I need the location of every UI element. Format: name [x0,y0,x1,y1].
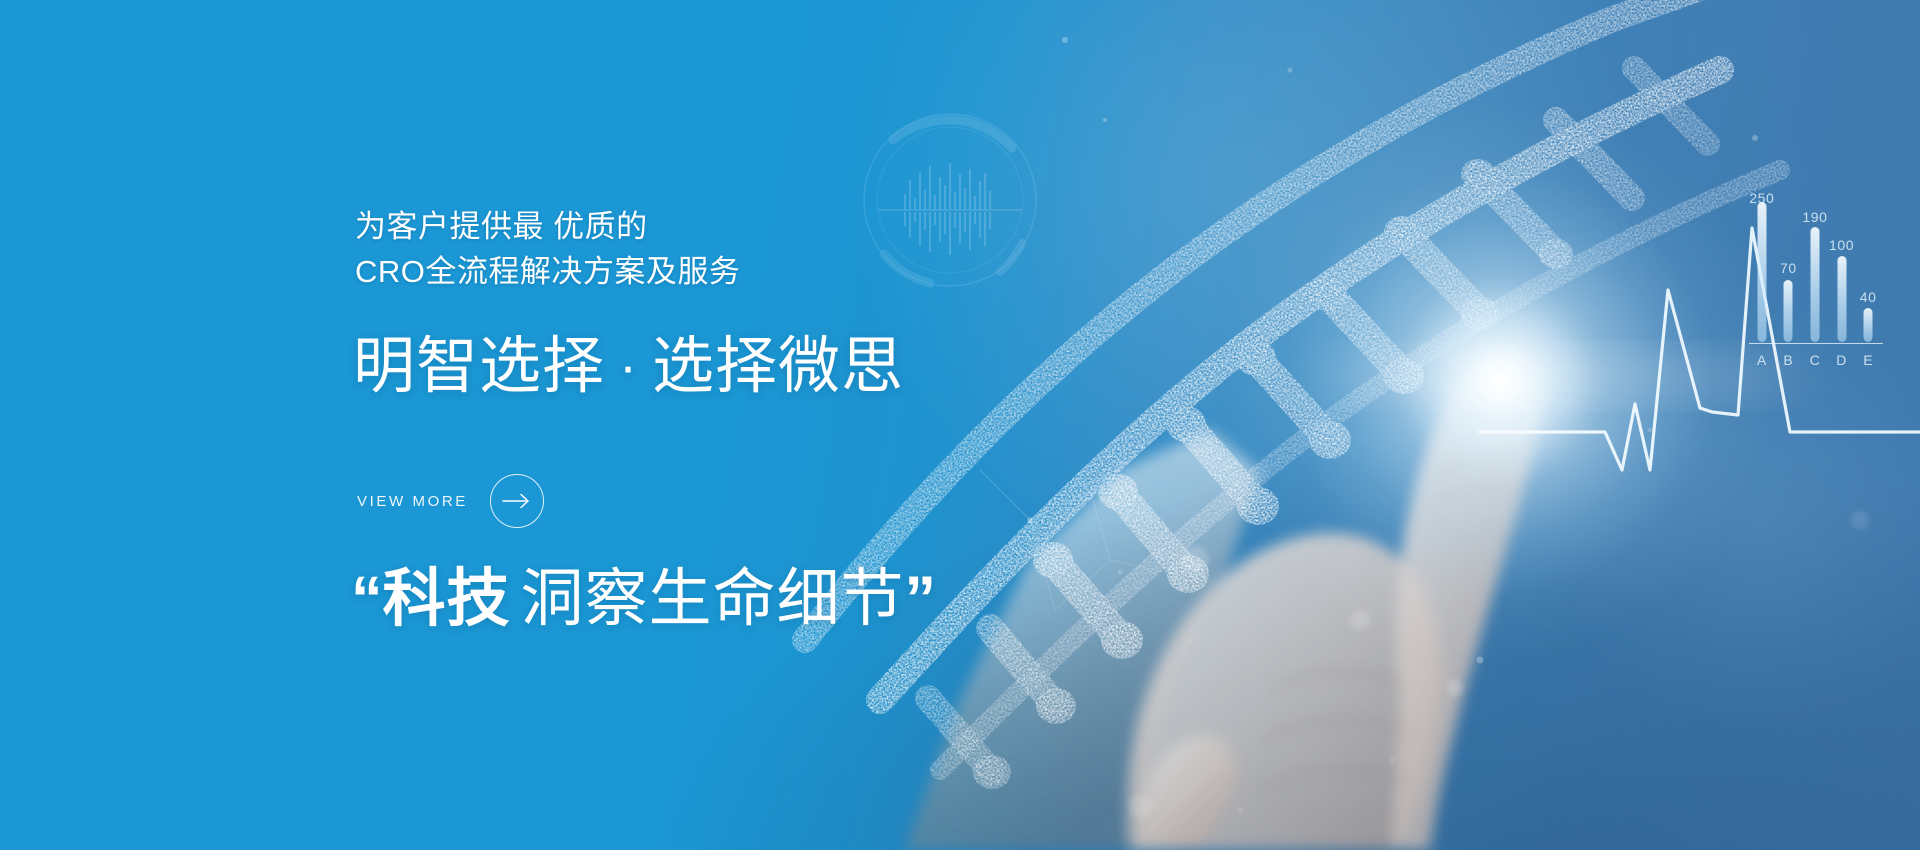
view-more-button[interactable]: VIEW MORE [357,474,544,528]
quote-light-text: 洞察生命细节 [511,564,905,634]
hero-headline: 明智选择·选择微思 [353,328,904,405]
hero-subtitle: 为客户提供最 优质的 CRO全流程解决方案及服务 [355,204,740,294]
view-more-label: VIEW MORE [357,493,468,510]
hero-subtitle-line-2: CRO全流程解决方案及服务 [355,249,740,294]
hero-quote: “科技洞察生命细节” [351,557,936,641]
quote-close-mark: ” [905,564,937,634]
hero-headline-part-2: 选择微思 [652,332,904,401]
quote-strong-text: 科技 [383,564,511,634]
hero-banner: 250 A 70 B 190 C 100 D 40 E 为客户提供最 优质的 C… [0,0,1920,850]
quote-open-mark: “ [351,564,383,634]
hero-headline-separator: · [605,336,652,396]
hero-content: 为客户提供最 优质的 CRO全流程解决方案及服务 明智选择·选择微思 VIEW … [355,0,1115,850]
hero-subtitle-line-1: 为客户提供最 优质的 [355,204,740,249]
hero-headline-part-1: 明智选择 [353,332,605,401]
arrow-right-icon[interactable] [490,474,544,528]
